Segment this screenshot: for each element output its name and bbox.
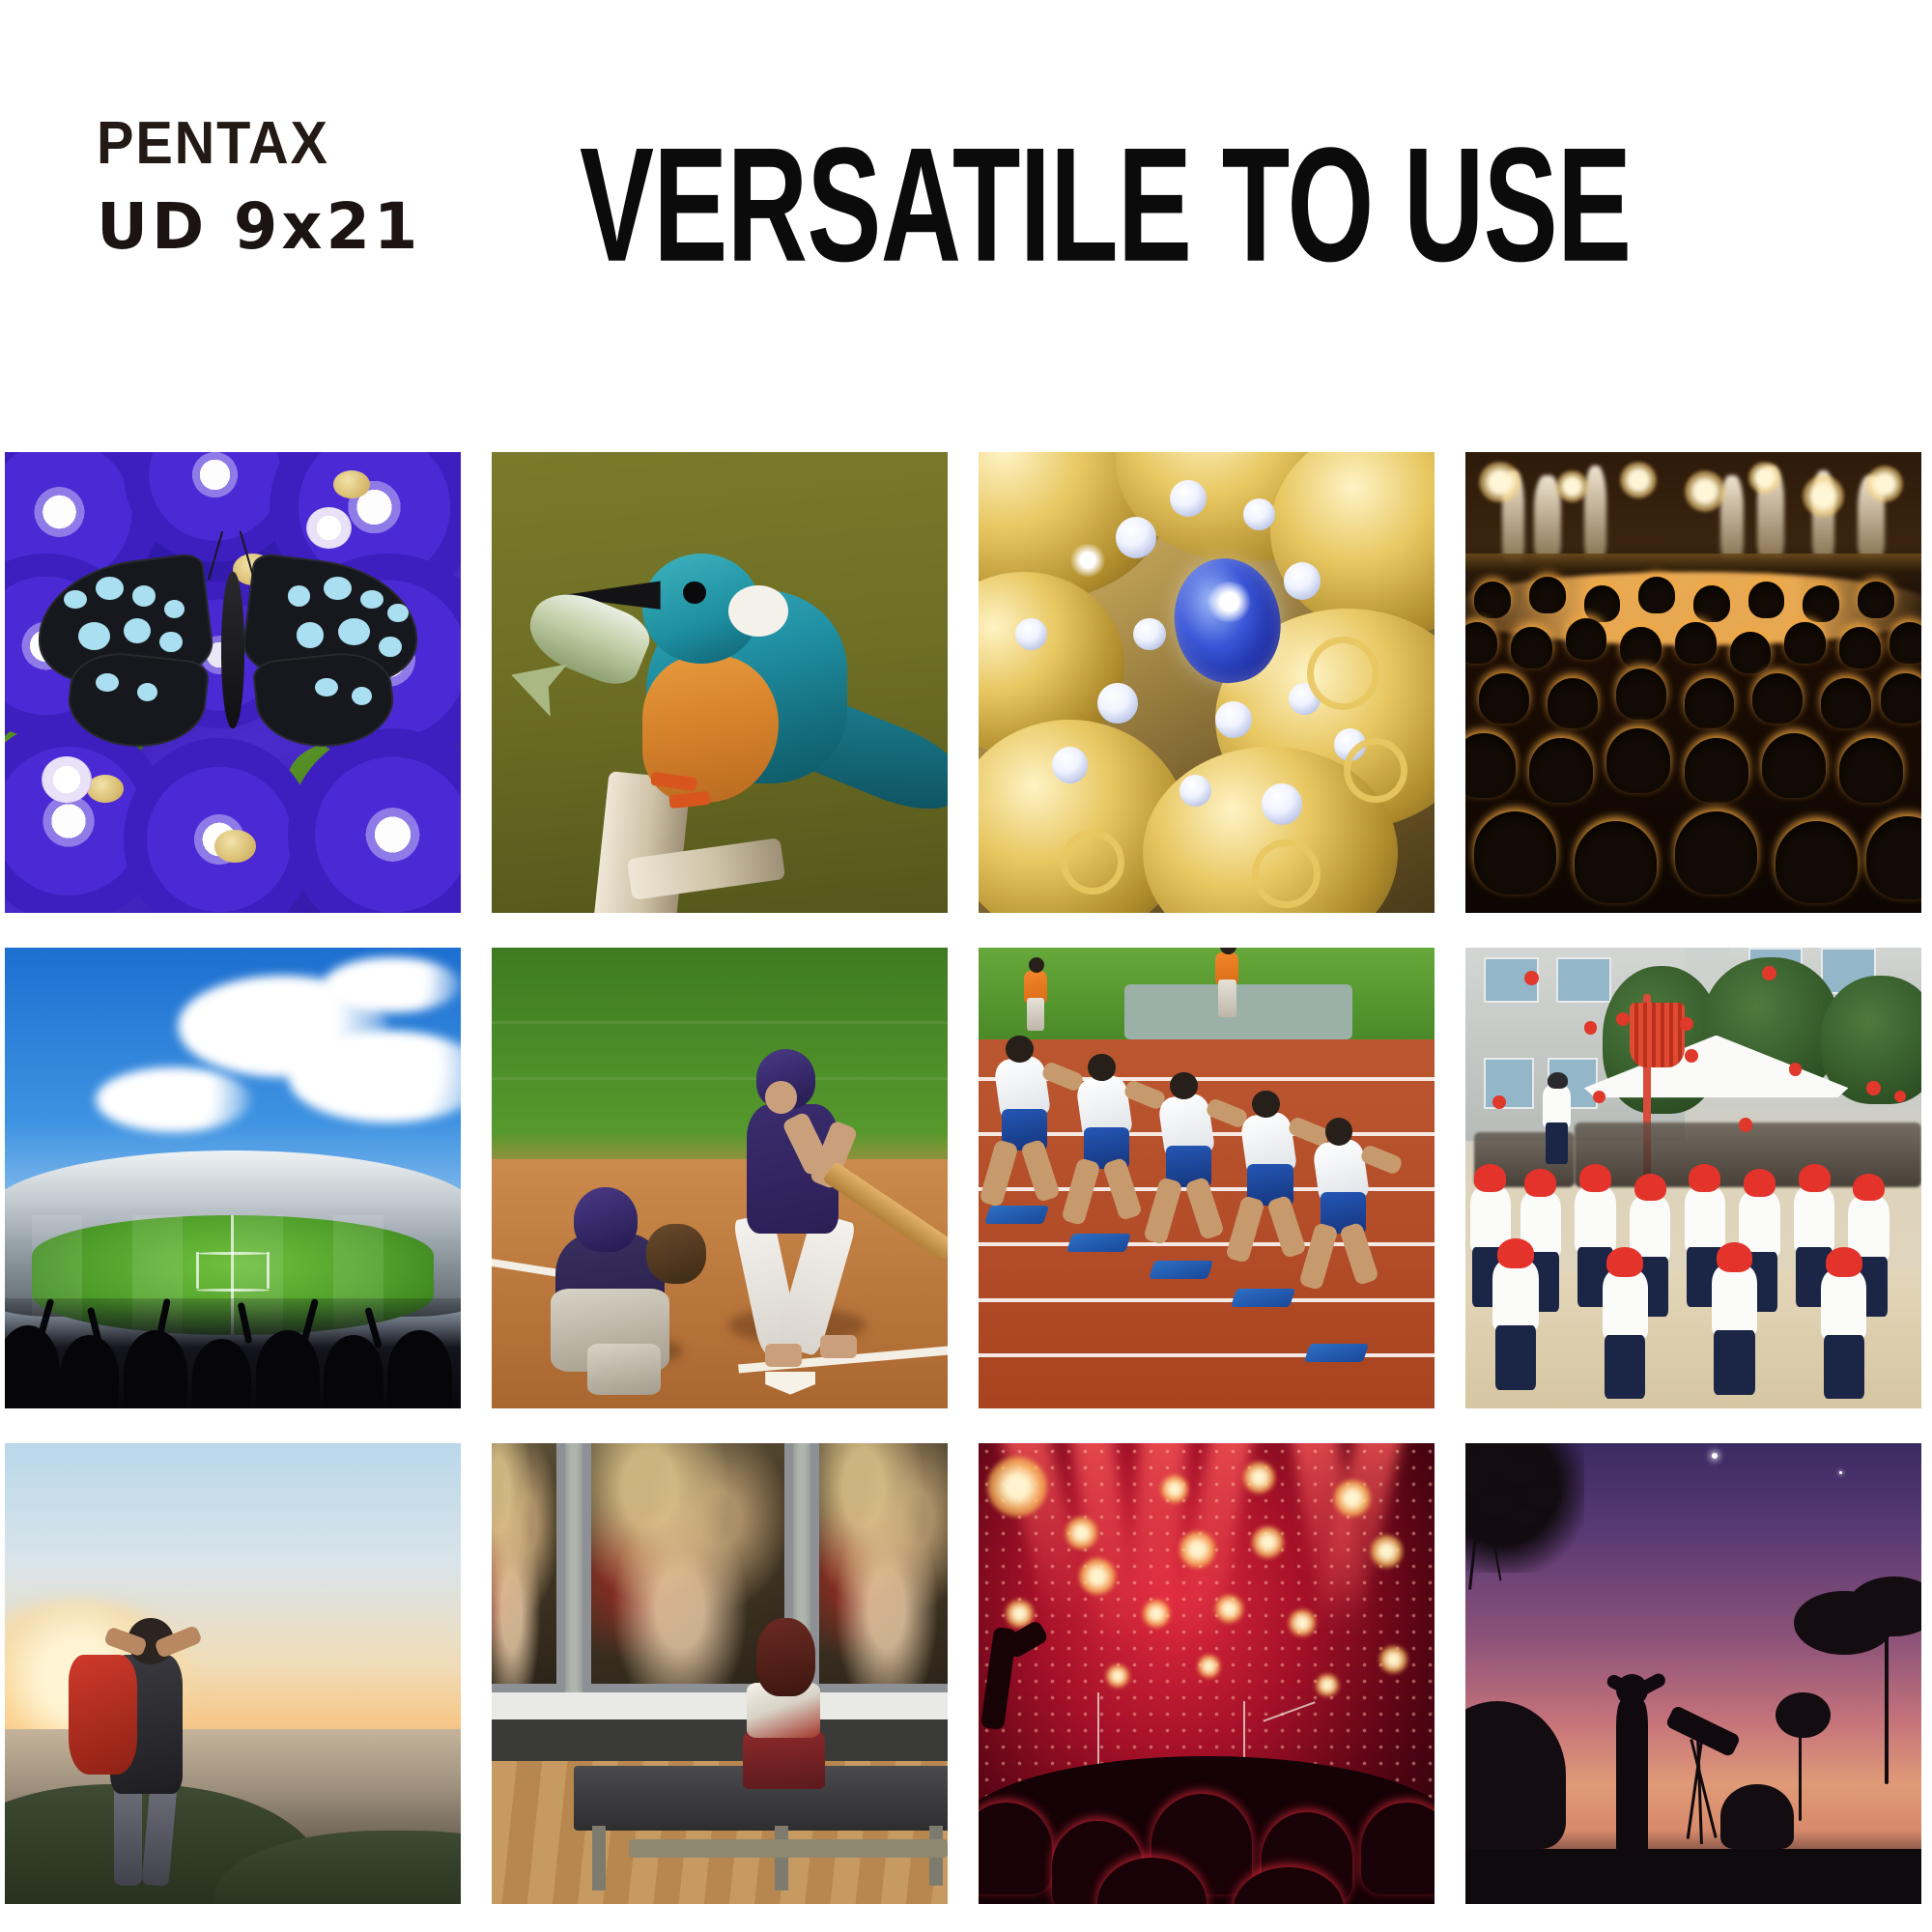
gallery-item-theater-audience [1465,452,1921,913]
gallery-item-hiker-with-binoculars [5,1443,461,1904]
gallery-item-stargazer-with-telescope [1465,1443,1921,1904]
gallery-item-soccer-stadium [5,948,461,1408]
gallery-item-rock-concert-lights [979,1443,1435,1904]
page-title: VERSATILE TO USE [580,124,1486,286]
product-marketing-page: PENTAX UD 9x21 VERSATILE TO USE [0,0,1932,1932]
gallery-item-butterfly-on-blue-flowers [5,452,461,913]
gallery-item-baseball-batter [492,948,948,1408]
gallery-item-track-sprinters [979,948,1435,1408]
usage-scenario-gallery [5,452,1932,1932]
product-model: UD 9x21 [97,195,498,259]
gallery-item-school-sports-day [1465,948,1921,1408]
gallery-item-museum-gallery [492,1443,948,1904]
brand-name: PENTAX [97,114,474,174]
gallery-item-kingfisher-with-fish [492,452,948,913]
header-banner: PENTAX UD 9x21 VERSATILE TO USE [0,0,1932,444]
brand-block: PENTAX UD 9x21 [97,114,502,259]
gallery-item-gold-jewelry-closeup [979,452,1435,913]
